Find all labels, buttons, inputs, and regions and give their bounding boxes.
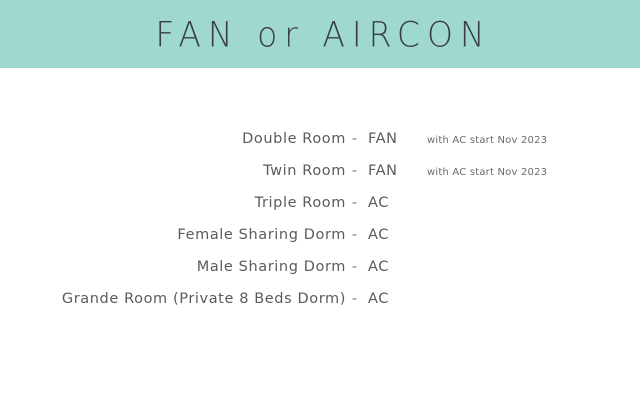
room-note: with AC start Nov 2023 xyxy=(425,135,640,146)
list-item: Female Sharing Dorm - AC xyxy=(0,227,640,259)
list-item: Grande Room (Private 8 Beds Dorm) - AC xyxy=(0,291,640,323)
slide-page: FAN or AIRCON Double Room - FAN with AC … xyxy=(0,0,640,400)
room-separator: - xyxy=(346,291,363,307)
room-cooling-value: AC xyxy=(363,259,425,275)
room-cooling-value: AC xyxy=(363,195,425,211)
room-name: Twin Room xyxy=(0,163,346,179)
page-title: FAN or AIRCON xyxy=(148,13,491,54)
room-name: Grande Room (Private 8 Beds Dorm) xyxy=(0,291,346,307)
room-cooling-value: FAN xyxy=(363,131,425,147)
list-item: Double Room - FAN with AC start Nov 2023 xyxy=(0,131,640,163)
room-separator: - xyxy=(346,131,363,147)
room-separator: - xyxy=(346,163,363,179)
room-name: Male Sharing Dorm xyxy=(0,259,346,275)
header-banner: FAN or AIRCON xyxy=(0,0,640,68)
list-item: Male Sharing Dorm - AC xyxy=(0,259,640,291)
room-cooling-value: AC xyxy=(363,227,425,243)
room-separator: - xyxy=(346,259,363,275)
list-item: Twin Room - FAN with AC start Nov 2023 xyxy=(0,163,640,195)
room-name: Double Room xyxy=(0,131,346,147)
room-separator: - xyxy=(346,227,363,243)
room-amenity-list: Double Room - FAN with AC start Nov 2023… xyxy=(0,131,640,323)
room-cooling-value: FAN xyxy=(363,163,425,179)
room-cooling-value: AC xyxy=(363,291,425,307)
room-separator: - xyxy=(346,195,363,211)
room-note: with AC start Nov 2023 xyxy=(425,167,640,178)
list-item: Triple Room - AC xyxy=(0,195,640,227)
room-name: Female Sharing Dorm xyxy=(0,227,346,243)
room-name: Triple Room xyxy=(0,195,346,211)
